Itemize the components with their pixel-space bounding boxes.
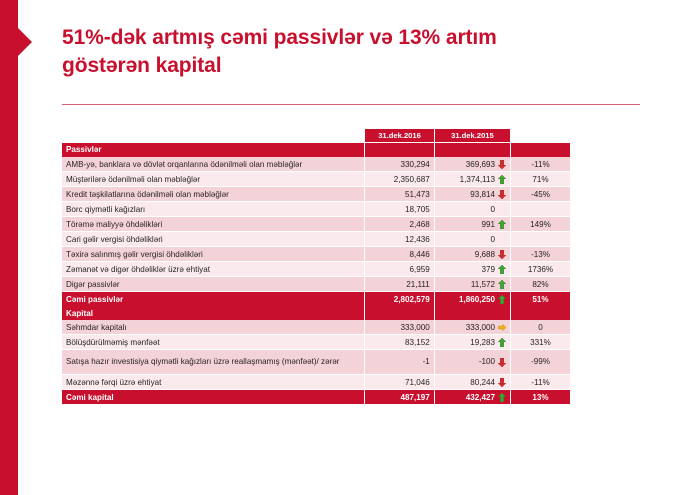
total-change-percent: 13% [511, 390, 570, 405]
column-header-year2: 31.dek.2015 [434, 129, 510, 143]
column-header-year1: 31.dek.2016 [365, 129, 435, 143]
section-blank-y1 [365, 143, 435, 158]
arrow-up-icon [498, 175, 506, 184]
total-label: Cəmi passivlər [62, 292, 365, 307]
row-label: Borc qiymətli kağızları [62, 202, 365, 217]
row-change-percent: -11% [511, 157, 570, 172]
row-label: Cari gəlir vergisi öhdəlikləri [62, 232, 365, 247]
row-label: Satışa hazır investisiya qiymətli kağızl… [62, 350, 365, 375]
left-accent-bar [0, 0, 18, 495]
row-value-year1: 21,111 [365, 277, 435, 292]
total-value-year2: 432,427 [434, 390, 510, 405]
row-value-year2: 333,000 [434, 320, 510, 335]
row-value-year2: 379 [434, 262, 510, 277]
row-value-year1: 330,294 [365, 157, 435, 172]
table-row: Zəmanət və digər öhdəliklər üzrə ehtiyat… [62, 262, 570, 277]
row-change-percent: -13% [511, 247, 570, 262]
page-title: 51%-dək artmış cəmi passivlər və 13% art… [62, 24, 582, 79]
row-change-percent: 331% [511, 335, 570, 350]
row-label: Təxirə salınmış gəlir vergisi öhdəliklər… [62, 247, 365, 262]
table-row: Kredit təşkilatlarına ödənilməli olan mə… [62, 187, 570, 202]
section-header-row: Passivlər [62, 143, 570, 158]
row-change-percent: 149% [511, 217, 570, 232]
row-change-percent: -99% [511, 350, 570, 375]
arrow-up-icon [498, 220, 506, 229]
row-value-year1: 8,446 [365, 247, 435, 262]
arrow-down-icon [498, 160, 506, 169]
section-blank-pct [511, 143, 570, 158]
row-value-year2: 19,283 [434, 335, 510, 350]
table-row: Törəmə maliyyə öhdəlikləri2,468991149% [62, 217, 570, 232]
arrow-up-icon [498, 265, 506, 274]
table-row: Borc qiymətli kağızları18,7050 [62, 202, 570, 217]
table-row: Bölüşdürülməmiş mənfəət83,15219,283331% [62, 335, 570, 350]
chevron-right-icon [18, 28, 32, 56]
row-label: AMB-yə, banklara və dövlət orqanlarına ö… [62, 157, 365, 172]
row-value-year2: 9,688 [434, 247, 510, 262]
row-value-year1: 83,152 [365, 335, 435, 350]
table-row: Digər passivlər21,11111,57282% [62, 277, 570, 292]
table-total-row: Cəmi passivlər2,802,5791,860,25051% [62, 292, 570, 307]
row-change-percent: 71% [511, 172, 570, 187]
row-label: Məzənnə fərqi üzrə ehtiyat [62, 375, 365, 390]
row-value-year1: 51,473 [365, 187, 435, 202]
total-label: Cəmi kapital [62, 390, 365, 405]
table-header-row: 31.dek.201631.dek.2015 [62, 129, 570, 143]
table-row: Satışa hazır investisiya qiymətli kağızl… [62, 350, 570, 375]
section-blank-y2 [434, 143, 510, 158]
row-value-year2: 369,693 [434, 157, 510, 172]
row-value-year2: 991 [434, 217, 510, 232]
row-value-year1: 2,350,687 [365, 172, 435, 187]
row-label: Bölüşdürülməmiş mənfəət [62, 335, 365, 350]
row-change-percent: 1736% [511, 262, 570, 277]
arrow-up-icon [498, 295, 506, 304]
section-title: Passivlər [62, 143, 365, 158]
row-change-percent: -45% [511, 187, 570, 202]
row-change-percent: 0 [511, 320, 570, 335]
table-row: Müştərilərə ödənilməli olan məbləğlər2,3… [62, 172, 570, 187]
header-blank [62, 129, 365, 143]
balance-sheet-table: 31.dek.201631.dek.2015PassivlərAMB-yə, b… [62, 128, 570, 404]
row-value-year2: 0 [434, 232, 510, 247]
arrow-down-icon [498, 190, 506, 199]
arrow-up-icon [498, 338, 506, 347]
total-value-year1: 487,197 [365, 390, 435, 405]
row-label: Digər passivlər [62, 277, 365, 292]
title-divider [62, 104, 640, 105]
row-value-year2: 80,244 [434, 375, 510, 390]
arrow-down-icon [498, 250, 506, 259]
row-label: Zəmanət və digər öhdəliklər üzrə ehtiyat [62, 262, 365, 277]
table-row: Cari gəlir vergisi öhdəlikləri12,4360 [62, 232, 570, 247]
row-value-year2: 93,814 [434, 187, 510, 202]
arrow-right-icon [498, 323, 506, 332]
table: 31.dek.201631.dek.2015PassivlərAMB-yə, b… [62, 128, 570, 404]
row-change-percent: -11% [511, 375, 570, 390]
row-change-percent [511, 232, 570, 247]
row-value-year1: 333,000 [365, 320, 435, 335]
total-value-year1: 2,802,579 [365, 292, 435, 307]
row-change-percent [511, 202, 570, 217]
arrow-down-icon [498, 378, 506, 387]
row-value-year2: 0 [434, 202, 510, 217]
row-value-year1: 2,468 [365, 217, 435, 232]
row-value-year1: 12,436 [365, 232, 435, 247]
arrow-up-icon [498, 393, 506, 402]
total-change-percent: 51% [511, 292, 570, 307]
row-value-year2: 11,572 [434, 277, 510, 292]
section-blank-y2 [434, 306, 510, 320]
row-label: Kredit təşkilatlarına ödənilməli olan mə… [62, 187, 365, 202]
row-label: Müştərilərə ödənilməli olan məbləğlər [62, 172, 365, 187]
row-value-year1: 71,046 [365, 375, 435, 390]
arrow-down-icon [498, 358, 506, 367]
section-header-row: Kapital [62, 306, 570, 320]
section-blank-y1 [365, 306, 435, 320]
total-value-year2: 1,860,250 [434, 292, 510, 307]
table-total-row: Cəmi kapital487,197432,42713% [62, 390, 570, 405]
row-label: Səhmdar kapitalı [62, 320, 365, 335]
row-label: Törəmə maliyyə öhdəlikləri [62, 217, 365, 232]
row-value-year2: -100 [434, 350, 510, 375]
table-row: Təxirə salınmış gəlir vergisi öhdəliklər… [62, 247, 570, 262]
table-row: Məzənnə fərqi üzrə ehtiyat71,04680,244-1… [62, 375, 570, 390]
header-blank-change [511, 129, 570, 143]
row-value-year1: 18,705 [365, 202, 435, 217]
arrow-up-icon [498, 280, 506, 289]
table-row: Səhmdar kapitalı333,000333,0000 [62, 320, 570, 335]
row-value-year2: 1,374,113 [434, 172, 510, 187]
table-row: AMB-yə, banklara və dövlət orqanlarına ö… [62, 157, 570, 172]
section-blank-pct [511, 306, 570, 320]
section-title: Kapital [62, 306, 365, 320]
row-value-year1: -1 [365, 350, 435, 375]
row-change-percent: 82% [511, 277, 570, 292]
row-value-year1: 6,959 [365, 262, 435, 277]
